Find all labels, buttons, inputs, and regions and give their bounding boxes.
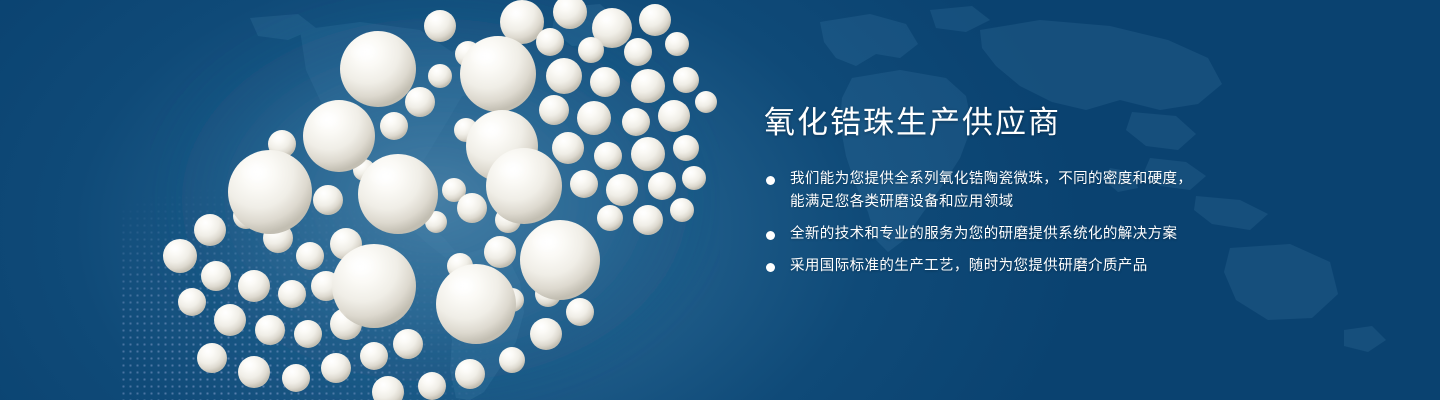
bullet-dot-icon	[766, 263, 775, 272]
hero-banner: 氧化锆珠生产供应商 我们能为您提供全系列氧化锆陶瓷微珠，不同的密度和硬度， 能满…	[0, 0, 1440, 400]
banner-copy: 氧化锆珠生产供应商 我们能为您提供全系列氧化锆陶瓷微珠，不同的密度和硬度， 能满…	[764, 104, 1384, 278]
zirconia-bead-photo	[150, 0, 720, 400]
bullet-dot-icon	[766, 231, 775, 240]
list-item: 采用国际标准的生产工艺，随时为您提供研磨介质产品	[764, 255, 1384, 278]
list-item: 我们能为您提供全系列氧化锆陶瓷微珠，不同的密度和硬度， 能满足您各类研磨设备和应…	[764, 168, 1384, 214]
list-item-line-1: 我们能为您提供全系列氧化锆陶瓷微珠，不同的密度和硬度，	[790, 171, 1192, 187]
list-item: 全新的技术和专业的服务为您的研磨提供系统化的解决方案	[764, 223, 1384, 246]
list-item-line-2: 能满足您各类研磨设备和应用领域	[790, 191, 1384, 214]
list-item-line-1: 全新的技术和专业的服务为您的研磨提供系统化的解决方案	[790, 226, 1177, 242]
feature-list: 我们能为您提供全系列氧化锆陶瓷微珠，不同的密度和硬度， 能满足您各类研磨设备和应…	[764, 168, 1384, 278]
page-title: 氧化锆珠生产供应商	[764, 104, 1384, 142]
list-item-line-1: 采用国际标准的生产工艺，随时为您提供研磨介质产品	[790, 258, 1148, 274]
halftone-texture	[120, 110, 560, 400]
bullet-dot-icon	[766, 176, 775, 185]
